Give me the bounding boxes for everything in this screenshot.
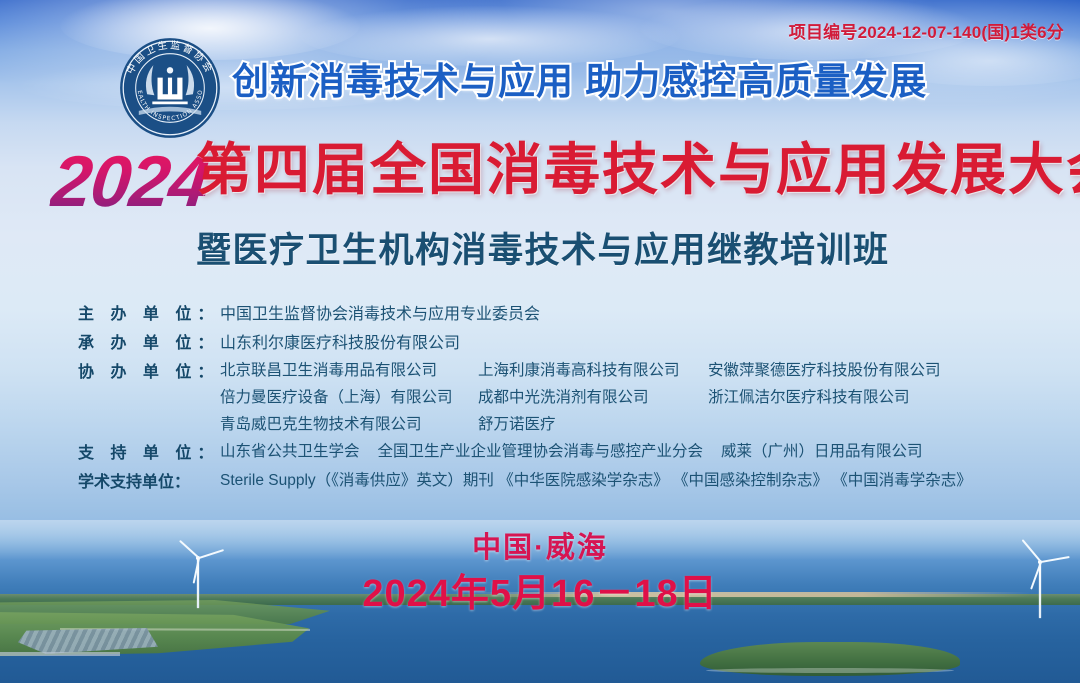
event-location: 中国·威海 <box>0 524 1080 566</box>
academic-support-row: 学术支持单位： Sterile Supply（《消毒供应》英文）期刊 《中华医院… <box>78 468 1068 492</box>
coorganizer-label: 协 办 单 位： <box>78 358 220 382</box>
list-item: 浙江佩洁尔医疗科技有限公司 <box>708 385 941 407</box>
coorganizer-row: 协 办 单 位： 北京联昌卫生消毒用品有限公司 倍力曼医疗设备（上海）有限公司 … <box>78 358 1068 434</box>
year-label: 2024 <box>48 146 212 218</box>
organizer-label: 承 办 单 位： <box>78 329 220 353</box>
coorganizer-column-2: 上海利康消毒高科技有限公司 成都中光洗消剂有限公司 舒万诺医疗 <box>478 358 708 434</box>
list-item: 北京联昌卫生消毒用品有限公司 <box>220 358 478 380</box>
coorganizer-column-3: 安徽萍聚德医疗科技股份有限公司 浙江佩洁尔医疗科技有限公司 <box>708 358 941 434</box>
page-title: 第四届全国消毒技术与应用发展大会 <box>196 140 1080 202</box>
list-item: 上海利康消毒高科技有限公司 <box>478 358 708 380</box>
host-value: 中国卫生监督协会消毒技术与应用专业委员会 <box>220 300 540 324</box>
academic-support-value: Sterile Supply（《消毒供应》英文）期刊 《中华医院感染学杂志》 《… <box>220 468 972 490</box>
coorganizer-column-1: 北京联昌卫生消毒用品有限公司 倍力曼医疗设备（上海）有限公司 青岛威巴克生物技术… <box>220 358 478 434</box>
list-item: 安徽萍聚德医疗科技股份有限公司 <box>708 358 941 380</box>
organizer-value: 山东利尔康医疗科技股份有限公司 <box>220 329 460 353</box>
project-number: 项目编号2024-12-07-140(国)1类6分 <box>789 18 1064 43</box>
list-item: 威莱（广州）日用品有限公司 <box>721 439 923 461</box>
poster-content: 项目编号2024-12-07-140(国)1类6分 中国卫生监督协会 CHINA… <box>0 0 1080 683</box>
list-item: 倍力曼医疗设备（上海）有限公司 <box>220 385 478 407</box>
organizer-row: 承 办 单 位： 山东利尔康医疗科技股份有限公司 <box>78 329 1068 353</box>
list-item: 成都中光洗消剂有限公司 <box>478 385 708 407</box>
list-item: 全国卫生产业企业管理协会消毒与感控产业分会 <box>378 439 704 461</box>
title-row: 2024 第四届全国消毒技术与应用发展大会 <box>0 140 1080 224</box>
host-row: 主 办 单 位： 中国卫生监督协会消毒技术与应用专业委员会 <box>78 300 1068 324</box>
list-item: 舒万诺医疗 <box>478 412 708 434</box>
list-item: 山东省公共卫生学会 <box>220 439 360 461</box>
support-label: 支 持 单 位： <box>78 439 220 463</box>
academic-support-label: 学术支持单位： <box>78 468 220 492</box>
organizer-info-block: 主 办 单 位： 中国卫生监督协会消毒技术与应用专业委员会 承 办 单 位： 山… <box>78 300 1068 497</box>
association-emblem-icon: 中国卫生监督协会 CHINA HEALTH INSPECTION ASSOCIA… <box>118 36 222 140</box>
coorganizer-columns: 北京联昌卫生消毒用品有限公司 倍力曼医疗设备（上海）有限公司 青岛威巴克生物技术… <box>220 358 941 434</box>
support-row: 支 持 单 位： 山东省公共卫生学会 全国卫生产业企业管理协会消毒与感控产业分会… <box>78 439 1068 463</box>
list-item: 青岛威巴克生物技术有限公司 <box>220 412 478 434</box>
poster-tagline: 创新消毒技术与应用 助力感控高质量发展 <box>232 60 992 104</box>
host-label: 主 办 单 位： <box>78 300 220 324</box>
conference-poster: 项目编号2024-12-07-140(国)1类6分 中国卫生监督协会 CHINA… <box>0 0 1080 683</box>
support-items: 山东省公共卫生学会 全国卫生产业企业管理协会消毒与感控产业分会 威莱（广州）日用… <box>220 439 923 461</box>
event-date: 2024年5月16－18日 <box>0 562 1080 617</box>
page-subtitle: 暨医疗卫生机构消毒技术与应用继教培训班 <box>196 222 1056 273</box>
